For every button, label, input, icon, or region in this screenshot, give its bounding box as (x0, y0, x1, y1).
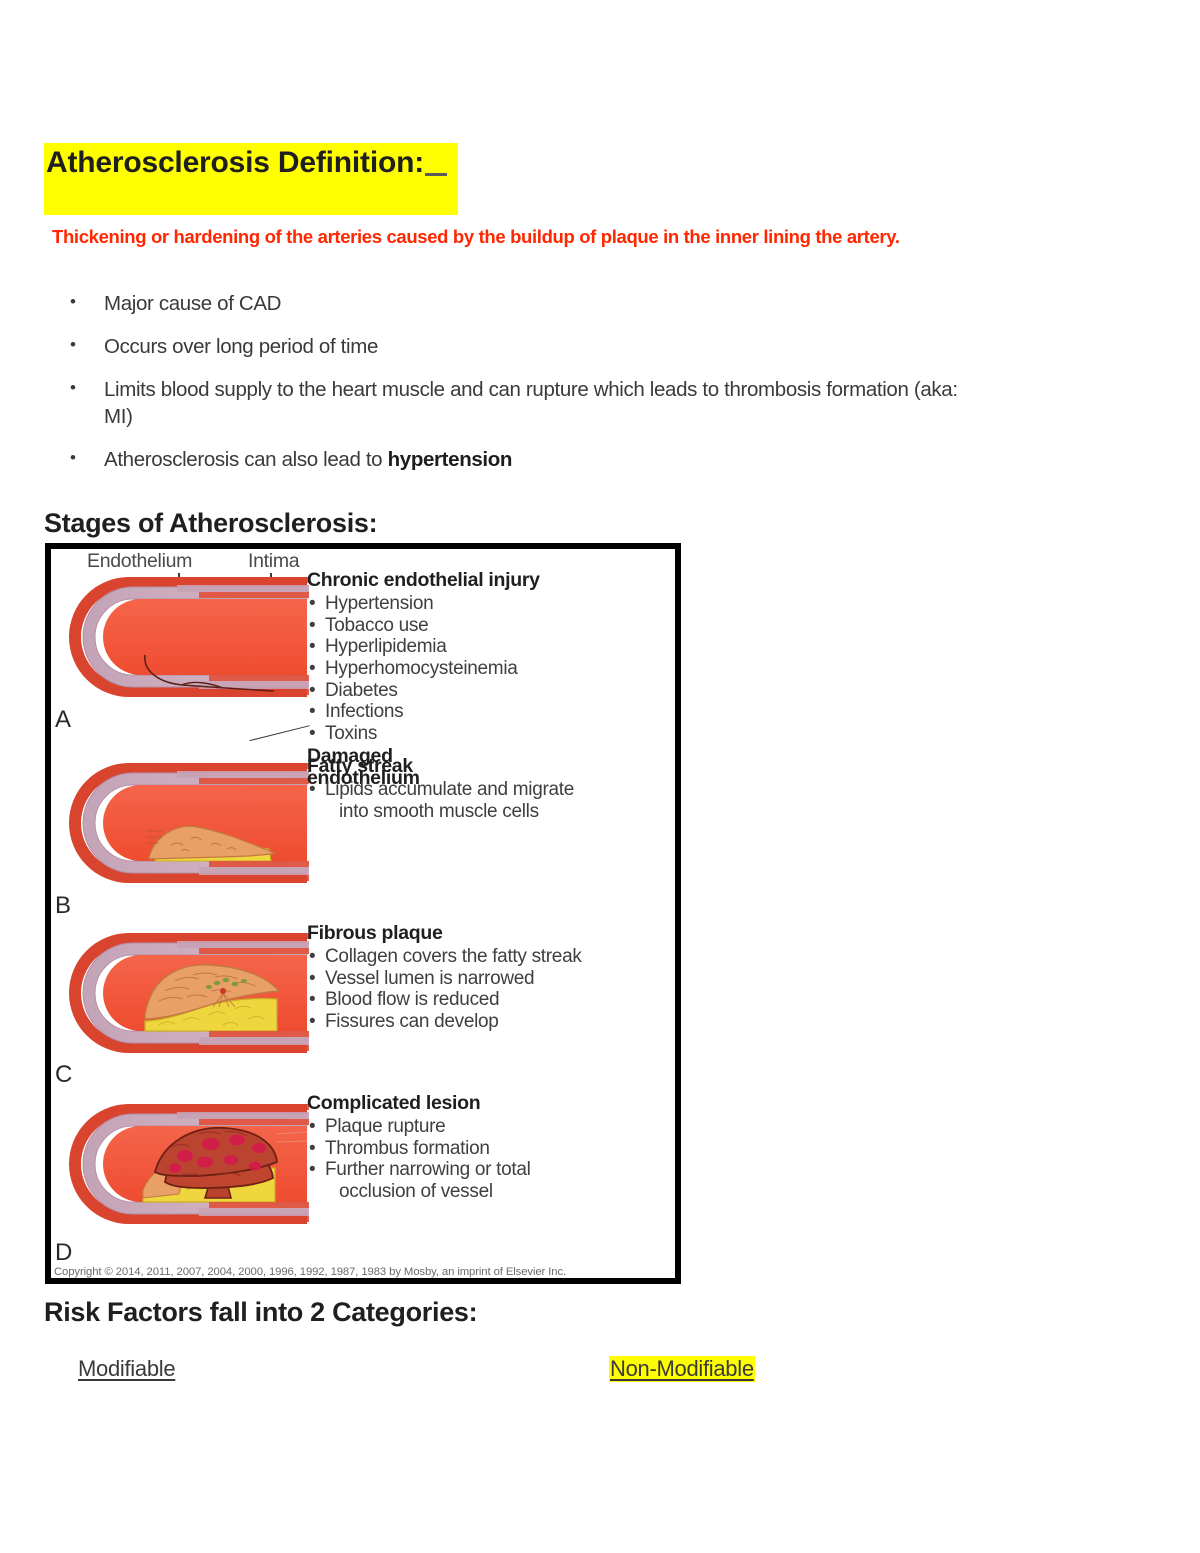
artery-illustration-b (59, 745, 309, 911)
stages-heading: Stages of Atherosclerosis: (44, 508, 377, 539)
stage-d-item-continuation: occlusion of vessel (307, 1181, 531, 1203)
artery-illustration-a (59, 559, 309, 725)
document-page: Atherosclerosis Definition: Thickening o… (0, 0, 1200, 1553)
list-item: • Major cause of CAD (66, 290, 986, 317)
list-item: • Limits blood supply to the heart muscl… (66, 376, 986, 430)
stage-c-item: Vessel lumen is narrowed (307, 968, 582, 990)
stage-c-item: Blood flow is reduced (307, 989, 582, 1011)
figure-canvas: Endothelium Intima (51, 549, 675, 1278)
page-title-text: Atherosclerosis Definition: (46, 146, 424, 179)
panel-letter-b: B (55, 892, 71, 920)
definition-text: Thickening or hardening of the arteries … (52, 226, 900, 248)
panel-letter-d: D (55, 1239, 72, 1267)
stage-c-title: Fibrous plaque (307, 922, 582, 945)
stage-a-item: Hyperhomocysteinemia (307, 658, 540, 680)
stage-a-item: Hypertension (307, 593, 540, 615)
stage-d-item: Plaque rupture (307, 1116, 531, 1138)
stage-d-item: Thrombus formation (307, 1138, 531, 1160)
panel-letter-c: C (55, 1061, 72, 1089)
stage-a-item: Tobacco use (307, 615, 540, 637)
list-item-label: Major cause of CAD (104, 290, 986, 317)
stage-c-item: Fissures can develop (307, 1011, 582, 1033)
list-item-label: Atherosclerosis can also lead to hyperte… (104, 446, 986, 473)
stage-b-title: Fatty streak (307, 755, 574, 778)
list-item: • Occurs over long period of time (66, 333, 986, 360)
artery-illustration-c (59, 915, 309, 1081)
title-trailing-underscore (425, 173, 447, 176)
stage-a-item: Infections (307, 701, 540, 723)
stage-d-text-block: Complicated lesion Plaque rupture Thromb… (307, 1092, 531, 1203)
bullet-dot-icon: • (66, 333, 104, 358)
stage-d-item: Further narrowing or total (307, 1159, 531, 1181)
bullet-dot-icon: • (66, 446, 104, 471)
list-item-text-emphasis: hypertension (388, 448, 513, 471)
list-item-text-normal: Atherosclerosis can also lead to (104, 448, 388, 471)
page-title: Atherosclerosis Definition: (44, 143, 458, 215)
stage-a-item: Toxins (307, 723, 540, 745)
stage-b-item-continuation: into smooth muscle cells (307, 801, 574, 823)
stage-b-item: Lipids accumulate and migrate (307, 779, 574, 801)
bullet-dot-icon: • (66, 290, 104, 315)
stage-c-item: Collagen covers the fatty streak (307, 946, 582, 968)
stage-a-item: Diabetes (307, 680, 540, 702)
stage-b-text-block: Fatty streak Lipids accumulate and migra… (307, 755, 574, 822)
list-item: • Atherosclerosis can also lead to hyper… (66, 446, 986, 473)
bullet-dot-icon: • (66, 376, 104, 401)
stage-c-text-block: Fibrous plaque Collagen covers the fatty… (307, 922, 582, 1033)
panel-letter-a: A (55, 706, 71, 734)
bullet-list: • Major cause of CAD • Occurs over long … (66, 290, 986, 489)
artery-illustration-d (59, 1086, 309, 1252)
category-non-modifiable: Non-Modifiable (609, 1356, 755, 1382)
stage-d-title: Complicated lesion (307, 1092, 531, 1115)
figure-copyright: Copyright © 2014, 2011, 2007, 2004, 2000… (54, 1266, 566, 1278)
list-item-label: Occurs over long period of time (104, 333, 986, 360)
list-item-label: Limits blood supply to the heart muscle … (104, 376, 986, 430)
atherosclerosis-stages-figure: Endothelium Intima (45, 543, 681, 1284)
category-modifiable: Modifiable (78, 1356, 175, 1382)
risk-factors-heading: Risk Factors fall into 2 Categories: (44, 1297, 477, 1328)
stage-a-title: Chronic endothelial injury (307, 569, 540, 592)
stage-a-item: Hyperlipidemia (307, 636, 540, 658)
